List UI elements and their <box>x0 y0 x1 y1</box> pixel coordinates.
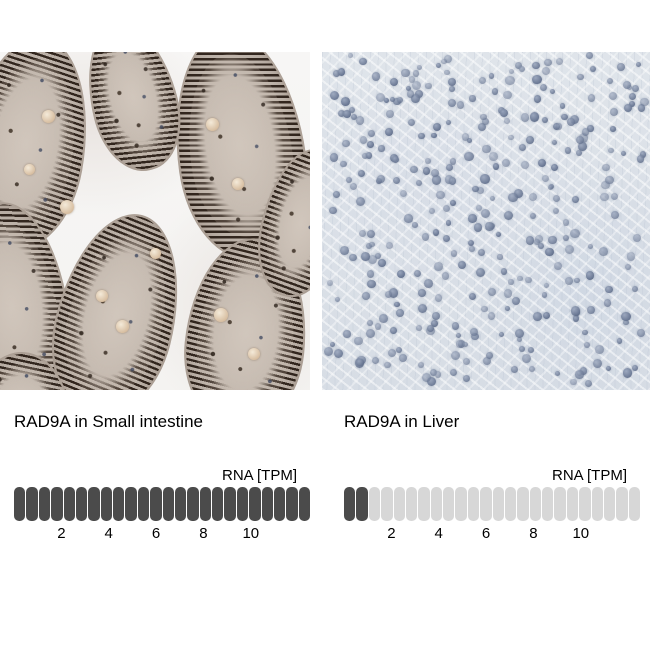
goblet-cell <box>214 308 228 322</box>
rna-bar-segment <box>480 487 491 521</box>
hepatocyte-nucleus <box>519 144 526 151</box>
hepatocyte-nucleus <box>485 222 493 230</box>
hepatocyte-nucleus <box>508 279 514 285</box>
hepatocyte-nucleus <box>478 249 485 256</box>
tissue-image-liver <box>322 52 650 390</box>
hepatocyte-nucleus <box>617 338 623 344</box>
rna-bar-segment <box>604 487 615 521</box>
rna-bar-segment <box>443 487 454 521</box>
hepatocyte-nucleus <box>588 94 595 101</box>
hepatocyte-nucleus <box>515 329 524 338</box>
rna-bar-segment <box>150 487 161 521</box>
hepatocyte-nucleus <box>424 279 433 288</box>
goblet-cell <box>96 290 108 302</box>
rna-bar-segment <box>394 487 405 521</box>
hepatocyte-nucleus <box>410 166 418 174</box>
axis-tick-label: 2 <box>57 525 65 542</box>
hepatocyte-nucleus <box>567 118 575 126</box>
rna-bar-segment <box>212 487 223 521</box>
hepatocyte-nucleus <box>372 357 379 364</box>
rna-bar-segment <box>554 487 565 521</box>
rna-bar-segment <box>530 487 541 521</box>
hepatocyte-nucleus <box>610 108 618 116</box>
hepatocyte-nucleus <box>359 58 366 65</box>
rna-bar-segment <box>274 487 285 521</box>
hepatocyte-nucleus <box>599 247 608 256</box>
tissue-image-small-intestine <box>0 52 310 390</box>
rna-bar-segment <box>286 487 297 521</box>
axis-tick-label: 8 <box>529 525 537 542</box>
hepatocyte-nucleus <box>542 175 549 182</box>
hepatocyte-nucleus <box>375 323 382 330</box>
hepatocyte-nucleus <box>573 315 580 322</box>
chart-title-liver: RAD9A in Liver <box>344 412 459 432</box>
hepatocyte-nucleus <box>474 223 482 231</box>
goblet-cell <box>116 320 129 333</box>
hepatocyte-nucleus <box>586 52 593 59</box>
hepatocyte-nucleus <box>604 299 611 306</box>
hepatocyte-nucleus <box>481 209 490 218</box>
hepatocyte-nucleus <box>586 271 595 280</box>
hepatocyte-nucleus <box>346 177 352 183</box>
rna-bar-segment <box>369 487 380 521</box>
hepatocyte-nucleus <box>519 66 525 72</box>
rna-bar-segment <box>88 487 99 521</box>
hepatocyte-nucleus <box>632 365 638 371</box>
hepatocyte-nucleus <box>621 151 626 156</box>
hepatocyte-nucleus <box>343 110 351 118</box>
hepatocyte-nuclei-layer <box>322 52 650 390</box>
hepatocyte-nucleus <box>590 66 596 72</box>
rna-bar-segment <box>187 487 198 521</box>
hepatocyte-nucleus <box>422 233 429 240</box>
hepatocyte-nucleus <box>637 155 645 163</box>
hepatocyte-nucleus <box>449 86 455 92</box>
goblet-cell <box>150 248 161 259</box>
rna-bar-segment <box>200 487 211 521</box>
hepatocyte-nucleus <box>550 89 556 95</box>
rna-bar-track-liver <box>344 487 640 521</box>
hepatocyte-nucleus <box>418 362 424 368</box>
hepatocyte-nucleus <box>469 246 475 252</box>
hepatocyte-nucleus <box>404 214 412 222</box>
hepatocyte-nucleus <box>610 126 616 132</box>
hepatocyte-nucleus <box>384 362 391 369</box>
hepatocyte-nucleus <box>396 347 402 353</box>
hepatocyte-nucleus <box>532 62 539 69</box>
hepatocyte-nucleus <box>468 214 476 222</box>
hepatocyte-nucleus <box>435 371 441 377</box>
hepatocyte-nucleus <box>379 314 388 323</box>
hepatocyte-nucleus <box>493 163 499 169</box>
hepatocyte-nucleus <box>456 340 463 347</box>
hepatocyte-nucleus <box>521 161 529 169</box>
rna-bar-segment <box>76 487 87 521</box>
hepatocyte-nucleus <box>517 276 523 282</box>
hepatocyte-nucleus <box>367 320 373 326</box>
hepatocyte-nucleus <box>456 333 461 338</box>
hepatocyte-nucleus <box>356 359 364 367</box>
hepatocyte-nucleus <box>427 325 434 332</box>
hepatocyte-nucleus <box>412 81 421 90</box>
rna-bar-segment <box>138 487 149 521</box>
hepatocyte-nucleus <box>450 200 456 206</box>
hepatocyte-nucleus <box>348 53 353 58</box>
hepatocyte-nucleus <box>422 373 431 382</box>
hepatocyte-nucleus <box>563 235 569 241</box>
rna-bar-segment <box>356 487 367 521</box>
hepatocyte-nucleus <box>508 193 517 202</box>
goblet-cell <box>24 164 35 175</box>
hepatocyte-nucleus <box>540 84 547 91</box>
hepatocyte-nucleus <box>499 332 504 337</box>
hepatocyte-nucleus <box>384 98 389 103</box>
rna-bar-segment <box>567 487 578 521</box>
hepatocyte-nucleus <box>366 329 375 338</box>
axis-tick-label: 10 <box>242 525 259 542</box>
rna-bar-segment <box>344 487 355 521</box>
hepatocyte-nucleus <box>394 302 399 307</box>
rna-bar-segment <box>299 487 310 521</box>
hepatocyte-nucleus <box>435 294 442 301</box>
rna-bar-segment <box>431 487 442 521</box>
hepatocyte-nucleus <box>425 158 431 164</box>
hepatocyte-nucleus <box>551 164 558 171</box>
hepatocyte-nucleus <box>508 135 513 140</box>
hepatocyte-nucleus <box>386 242 393 249</box>
hepatocyte-nucleus <box>335 297 340 302</box>
hepatocyte-nucleus <box>529 193 537 201</box>
axis-tick-label: 4 <box>105 525 113 542</box>
hepatocyte-nucleus <box>525 277 531 283</box>
hepatocyte-nucleus <box>362 292 370 300</box>
hepatocyte-nucleus <box>563 219 569 225</box>
rna-bar-segment <box>262 487 273 521</box>
hepatocyte-nucleus <box>476 268 485 277</box>
goblet-cell <box>248 348 260 360</box>
hepatocyte-nucleus <box>329 207 336 214</box>
rna-bar-segment <box>26 487 37 521</box>
rna-bar-segment <box>579 487 590 521</box>
hepatocyte-nucleus <box>451 250 457 256</box>
rna-bar-segment <box>468 487 479 521</box>
rna-bar-segment <box>418 487 429 521</box>
hepatocyte-nucleus <box>503 91 512 100</box>
hepatocyte-nucleus <box>572 196 579 203</box>
hepatocyte-nucleus <box>552 140 558 146</box>
hepatocyte-nucleus <box>446 220 452 226</box>
hepatocyte-nucleus <box>480 174 489 183</box>
rna-bar-segment <box>381 487 392 521</box>
hepatocyte-nucleus <box>501 268 508 275</box>
hepatocyte-nucleus <box>529 366 535 372</box>
rna-axis-label-liver: RNA [TPM] <box>552 467 627 484</box>
hepatocyte-nucleus <box>388 349 397 358</box>
hepatocyte-nucleus <box>488 312 495 319</box>
hepatocyte-nucleus <box>565 277 573 285</box>
hepatocyte-nucleus <box>530 112 539 121</box>
hepatocyte-nucleus <box>400 190 407 197</box>
hepatocyte-nucleus <box>469 293 476 300</box>
hepatocyte-nucleus <box>341 97 350 106</box>
hepatocyte-nucleus <box>574 278 579 283</box>
hepatocyte-nucleus <box>600 193 608 201</box>
rna-axis-liver: 246810 <box>344 525 640 547</box>
rna-bar-segment <box>517 487 528 521</box>
hepatocyte-nucleus <box>544 59 552 67</box>
hepatocyte-nucleus <box>425 83 432 90</box>
hepatocyte-nucleus <box>361 252 370 261</box>
rna-bar-segment <box>163 487 174 521</box>
hepatocyte-nucleus <box>570 229 579 238</box>
hepatocyte-nucleus <box>378 259 386 267</box>
hepatocyte-nucleus <box>556 123 563 130</box>
hepatocyte-nucleus <box>360 136 367 143</box>
hepatocyte-nucleus <box>377 175 385 183</box>
hepatocyte-nucleus <box>555 371 560 376</box>
hepatocyte-nucleus <box>367 141 374 148</box>
hepatocyte-nucleus <box>504 211 513 220</box>
hepatocyte-nucleus <box>463 375 470 382</box>
hepatocyte-nucleus <box>367 230 375 238</box>
rna-bar-segment <box>542 487 553 521</box>
hepatocyte-nucleus <box>576 150 582 156</box>
hepatocyte-nucleus <box>542 117 548 123</box>
rna-bar-segment <box>14 487 25 521</box>
hepatocyte-nucleus <box>482 145 490 153</box>
hepatocyte-nucleus <box>338 68 345 75</box>
hepatocyte-nucleus <box>532 75 541 84</box>
hepatocyte-nucleus <box>545 248 553 256</box>
hepatocyte-nucleus <box>565 147 572 154</box>
hepatocyte-nucleus <box>496 232 501 237</box>
hepatocyte-nucleus <box>418 304 427 313</box>
hepatocyte-nucleus <box>412 222 418 228</box>
hepatocyte-nucleus <box>584 342 590 348</box>
hepatocyte-nucleus <box>505 306 510 311</box>
hepatocyte-nucleus <box>390 78 398 86</box>
hepatocyte-nucleus <box>632 85 639 92</box>
rna-bar-segment <box>64 487 75 521</box>
goblet-cell <box>60 200 74 214</box>
hepatocyte-nucleus <box>595 345 604 354</box>
hepatocyte-nucleus <box>359 230 366 237</box>
hepatocyte-nucleus <box>602 164 609 171</box>
hepatocyte-nucleus <box>492 88 499 95</box>
hepatocyte-nucleus <box>432 312 440 320</box>
axis-tick-label: 8 <box>199 525 207 542</box>
hepatocyte-nucleus <box>463 358 470 365</box>
hepatocyte-nucleus <box>354 337 362 345</box>
rna-bar-segment <box>39 487 50 521</box>
hepatocyte-nucleus <box>606 366 611 371</box>
hepatocyte-nucleus <box>553 208 559 214</box>
hepatocyte-nucleus <box>533 312 542 321</box>
hepatocyte-nucleus <box>629 93 637 101</box>
hepatocyte-nucleus <box>588 244 593 249</box>
hepatocyte-nucleus <box>451 351 460 360</box>
hepatocyte-nucleus <box>627 252 635 260</box>
hepatocyte-nucleus <box>553 195 560 202</box>
hepatocyte-nucleus <box>434 262 443 271</box>
hepatocyte-nucleus <box>522 354 531 363</box>
hepatocyte-nucleus <box>464 152 473 161</box>
hepatocyte-nucleus <box>452 322 459 329</box>
hepatocyte-nucleus <box>333 191 340 198</box>
hepatocyte-nucleus <box>526 136 534 144</box>
rna-axis-small-intestine: 246810 <box>14 525 310 547</box>
hepatocyte-nucleus <box>414 270 421 277</box>
hepatocyte-nucleus <box>436 63 441 68</box>
hepatocyte-nucleus <box>544 283 549 288</box>
micrograph-small-intestine <box>0 52 310 390</box>
hepatocyte-nucleus <box>608 148 614 154</box>
hepatocyte-nucleus <box>458 261 466 269</box>
hepatocyte-nucleus <box>423 167 431 175</box>
hepatocyte-nucleus <box>343 330 350 337</box>
hepatocyte-nucleus <box>504 118 510 124</box>
hepatocyte-nucleus <box>481 306 488 313</box>
axis-tick-label: 2 <box>387 525 395 542</box>
rna-bar-segment <box>237 487 248 521</box>
hepatocyte-nucleus <box>488 288 496 296</box>
hepatocyte-nucleus <box>408 119 415 126</box>
axis-tick-label: 10 <box>572 525 589 542</box>
hepatocyte-nucleus <box>401 69 409 77</box>
hepatocyte-nucleus <box>436 191 444 199</box>
hepatocyte-nucleus <box>530 213 536 219</box>
hepatocyte-nucleus <box>585 380 592 387</box>
hepatocyte-nucleus <box>637 329 645 337</box>
hepatocyte-nucleus <box>448 78 456 86</box>
rna-bar-segment <box>505 487 516 521</box>
rna-bar-segment <box>249 487 260 521</box>
hepatocyte-nucleus <box>582 330 588 336</box>
hepatocyte-nucleus <box>505 76 514 85</box>
hepatocyte-nucleus <box>625 264 631 270</box>
hepatocyte-nucleus <box>640 98 648 106</box>
hepatocyte-nucleus <box>623 81 631 89</box>
hepatocyte-nucleus <box>390 327 396 333</box>
hepatocyte-nucleus <box>358 170 365 177</box>
hepatocyte-nucleus <box>396 309 404 317</box>
rna-bar-segment <box>629 487 640 521</box>
hepatocyte-nucleus <box>512 297 520 305</box>
hepatocyte-nucleus <box>367 270 374 277</box>
hepatocyte-nucleus <box>443 205 450 212</box>
hepatocyte-nucleus <box>443 235 450 242</box>
hepatocyte-nucleus <box>399 354 407 362</box>
hepatocyte-nucleus <box>538 243 544 249</box>
rna-bar-track-small-intestine <box>14 487 310 521</box>
hepatocyte-nucleus <box>449 177 456 184</box>
hepatocyte-nucleus <box>633 234 641 242</box>
hepatocyte-nucleus <box>521 113 529 121</box>
hepatocyte-nucleus <box>356 197 365 206</box>
hepatocyte-nucleus <box>500 109 508 117</box>
rna-axis-label-small-intestine: RNA [TPM] <box>222 467 297 484</box>
hepatocyte-nucleus <box>543 312 550 319</box>
rna-bar-segment <box>113 487 124 521</box>
hepatocyte-nucleus <box>497 254 502 259</box>
hepatocyte-nucleus <box>565 245 574 254</box>
hepatocyte-nucleus <box>433 123 441 131</box>
hepatocyte-nucleus <box>611 211 619 219</box>
hepatocyte-nucleus <box>431 133 437 139</box>
hepatocyte-nucleus <box>330 342 335 347</box>
rna-bar-segment <box>592 487 603 521</box>
hepatocyte-nucleus <box>368 130 375 137</box>
hepatocyte-nucleus <box>571 306 580 315</box>
hepatocyte-nucleus <box>486 352 493 359</box>
hepatocyte-nucleus <box>593 359 602 368</box>
goblet-cell <box>42 110 55 123</box>
rna-bar-segment <box>125 487 136 521</box>
hepatocyte-nucleus <box>441 59 447 65</box>
hepatocyte-nucleus <box>446 164 453 171</box>
rna-bar-segment <box>101 487 112 521</box>
hepatocyte-nucleus <box>554 262 562 270</box>
hepatocyte-nucleus <box>470 328 478 336</box>
hepatocyte-nucleus <box>479 77 486 84</box>
hepatocyte-nucleus <box>624 104 632 112</box>
hepatocyte-nucleus <box>556 58 563 65</box>
hepatocyte-nucleus <box>334 349 343 358</box>
hepatocyte-nucleus <box>372 72 380 80</box>
hepatocyte-nucleus <box>632 286 638 292</box>
hepatocyte-nucleus <box>605 286 612 293</box>
hepatocyte-nucleus <box>469 95 475 101</box>
hepatocyte-nucleus <box>340 246 349 255</box>
micrograph-liver <box>322 52 650 390</box>
hepatocyte-nucleus <box>587 306 595 314</box>
rna-bar-segment <box>51 487 62 521</box>
rna-bar-segment <box>616 487 627 521</box>
rna-bar-segment <box>455 487 466 521</box>
hepatocyte-nucleus <box>418 133 424 139</box>
hepatocyte-nucleus <box>446 120 451 125</box>
hepatocyte-nucleus <box>330 153 339 162</box>
hepatocyte-nucleus <box>509 69 514 74</box>
hepatocyte-nucleus <box>519 346 525 352</box>
hepatocyte-nucleus <box>617 63 625 71</box>
hepatocyte-nucleus <box>342 140 350 148</box>
hepatocyte-nucleus <box>416 180 422 186</box>
hepatocyte-nucleus <box>378 145 384 151</box>
hepatocyte-nucleus <box>636 62 641 67</box>
hepatocyte-nucleus <box>607 78 613 84</box>
hepatocyte-nucleus <box>548 236 557 245</box>
hepatocyte-nucleus <box>356 116 365 125</box>
hepatocyte-nucleus <box>392 156 399 163</box>
hepatocyte-nucleus <box>417 65 422 70</box>
hepatocyte-nucleus <box>611 193 618 200</box>
rna-bar-segment <box>175 487 186 521</box>
hepatocyte-nucleus <box>623 368 632 377</box>
hepatocyte-nucleus <box>502 159 510 167</box>
hepatocyte-nucleus <box>386 110 394 118</box>
hepatocyte-nucleus <box>429 208 435 214</box>
hepatocyte-nucleus <box>605 176 613 184</box>
chart-title-small-intestine: RAD9A in Small intestine <box>14 412 203 432</box>
hepatocyte-nucleus <box>463 342 468 347</box>
hepatocyte-nucleus <box>418 289 426 297</box>
hepatocyte-nucleus <box>340 161 346 167</box>
rna-bar-segment <box>224 487 235 521</box>
hepatocyte-nucleus <box>349 254 357 262</box>
hepatocyte-nucleus <box>330 91 339 100</box>
hepatocyte-nucleus <box>489 152 498 161</box>
